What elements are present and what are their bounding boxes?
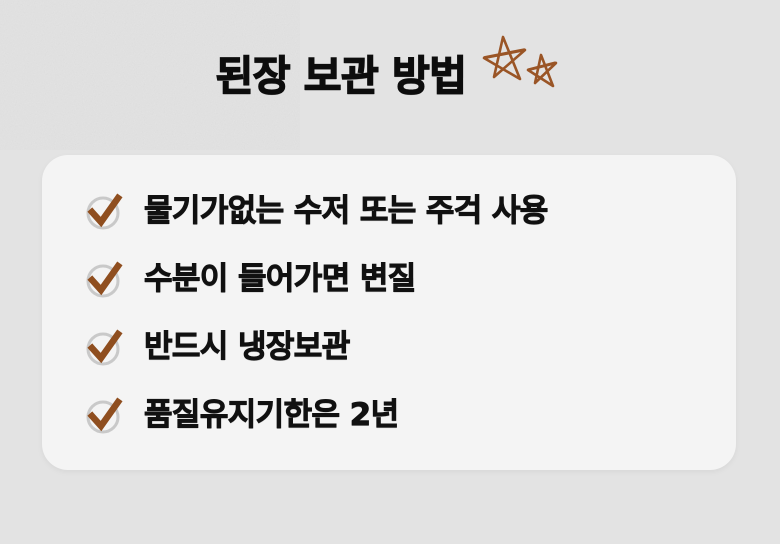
hand-drawn-stars-icon bbox=[478, 30, 564, 96]
list-item: 물기가없는 수저 또는 주걱 사용 bbox=[80, 177, 710, 245]
list-item-label: 반드시 냉장보관 bbox=[144, 328, 350, 366]
check-circle-icon bbox=[80, 392, 126, 438]
check-circle-icon bbox=[80, 188, 126, 234]
check-circle-icon bbox=[80, 256, 126, 302]
checklist-card: 물기가없는 수저 또는 주걱 사용 수분이 들어가면 변질 반드시 냉장보관 bbox=[42, 155, 736, 470]
check-circle-icon bbox=[80, 324, 126, 370]
list-item-label: 물기가없는 수저 또는 주걱 사용 bbox=[144, 192, 548, 230]
list-item: 반드시 냉장보관 bbox=[80, 313, 710, 381]
page-title: 된장 보관 방법 bbox=[216, 52, 467, 100]
list-item-label: 수분이 들어가면 변질 bbox=[144, 260, 416, 298]
list-item-label: 품질유지기한은 2년 bbox=[144, 396, 399, 434]
title-row: 된장 보관 방법 bbox=[0, 52, 780, 100]
infographic-poster: 된장 보관 방법 물기가없는 수저 또는 주걱 bbox=[0, 0, 780, 544]
header: 된장 보관 방법 bbox=[0, 0, 780, 150]
list-item: 품질유지기한은 2년 bbox=[80, 381, 710, 449]
checklist: 물기가없는 수저 또는 주걱 사용 수분이 들어가면 변질 반드시 냉장보관 bbox=[80, 177, 710, 449]
list-item: 수분이 들어가면 변질 bbox=[80, 245, 710, 313]
